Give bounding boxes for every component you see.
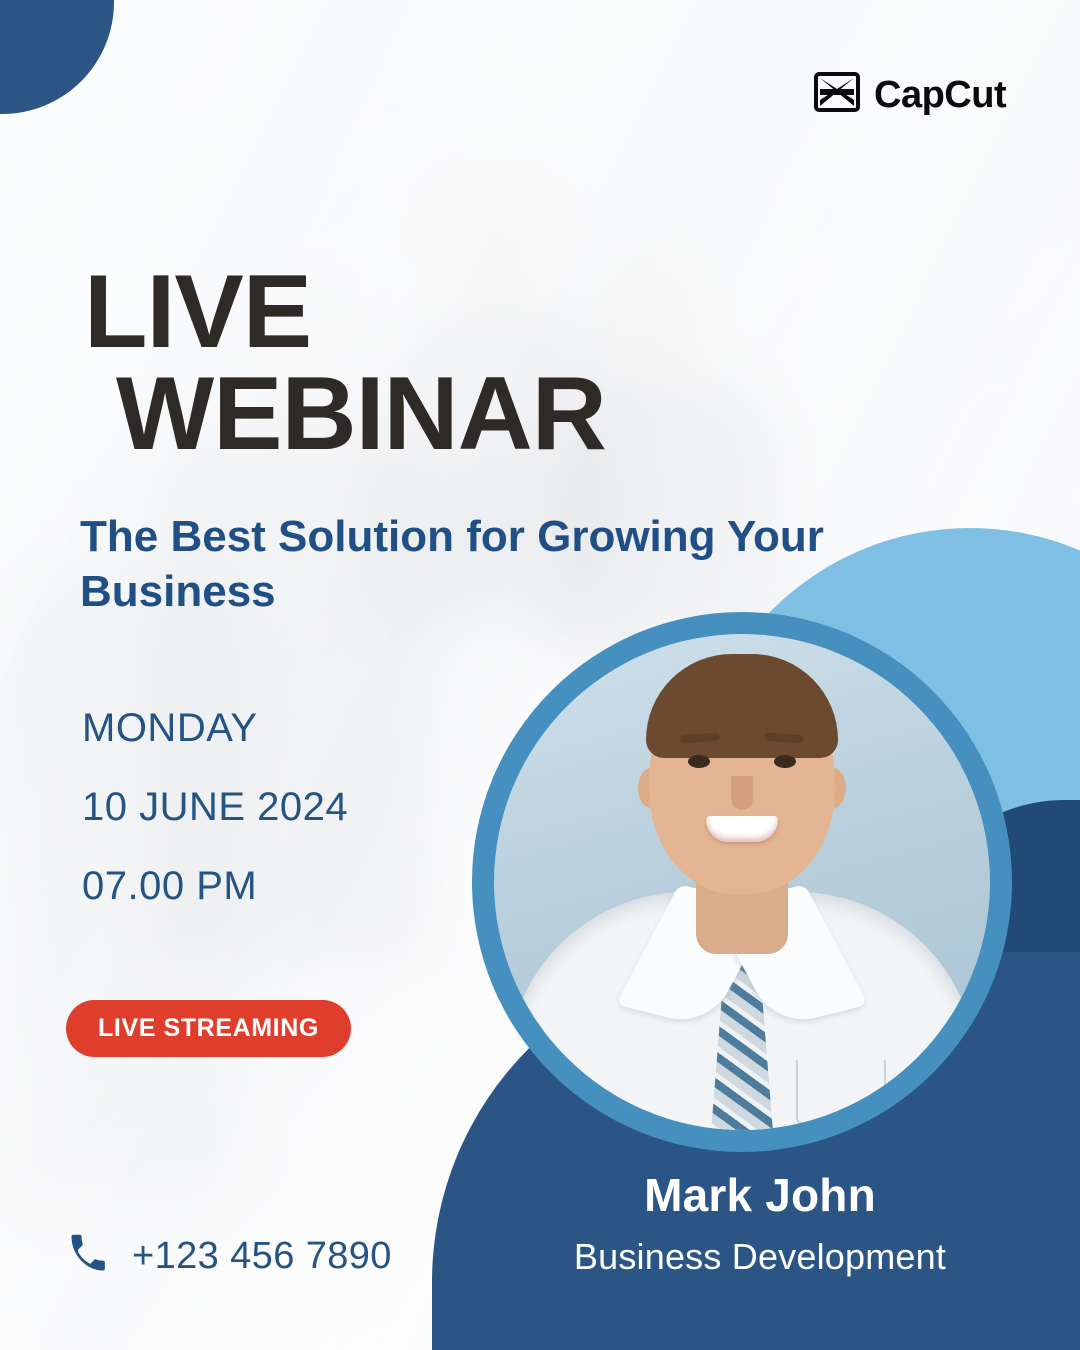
webinar-poster: CapCut LIVE WEBINAR The Best Solution fo… [0,0,1080,1350]
subtitle-line-1: The Best Solution for Growing [80,512,716,561]
capcut-wordmark: CapCut [874,76,1006,114]
photo-eye-right [774,755,796,768]
photo-smile [706,816,778,842]
phone-icon [66,1232,110,1281]
speaker-info: Mark John Business Development [500,1168,1020,1278]
photo-eye-left [688,755,710,768]
headline-line-2: WEBINAR [116,364,724,466]
page-title: LIVE WEBINAR [84,262,724,466]
photo-nose [731,776,753,810]
live-streaming-badge[interactable]: LIVE STREAMING [66,1000,351,1057]
subtitle: The Best Solution for Growing Your Busin… [80,509,850,620]
speaker-photo-ring [472,612,1012,1152]
photo-hair [646,654,838,758]
event-day: MONDAY [82,706,348,751]
speaker-photo [494,634,990,1130]
contact-phone[interactable]: +123 456 7890 [66,1232,392,1281]
phone-number: +123 456 7890 [132,1235,392,1278]
speaker-role: Business Development [500,1236,1020,1278]
capcut-logo[interactable]: CapCut [814,72,1006,117]
photo-shirt-pocket [796,1060,886,1124]
event-time: 07.00 PM [82,864,348,909]
headline-line-1: LIVE [84,254,311,370]
event-date: 10 JUNE 2024 [82,785,348,830]
capcut-bowtie-icon [814,72,860,117]
event-schedule: MONDAY 10 JUNE 2024 07.00 PM [82,706,348,909]
speaker-name: Mark John [500,1168,1020,1222]
